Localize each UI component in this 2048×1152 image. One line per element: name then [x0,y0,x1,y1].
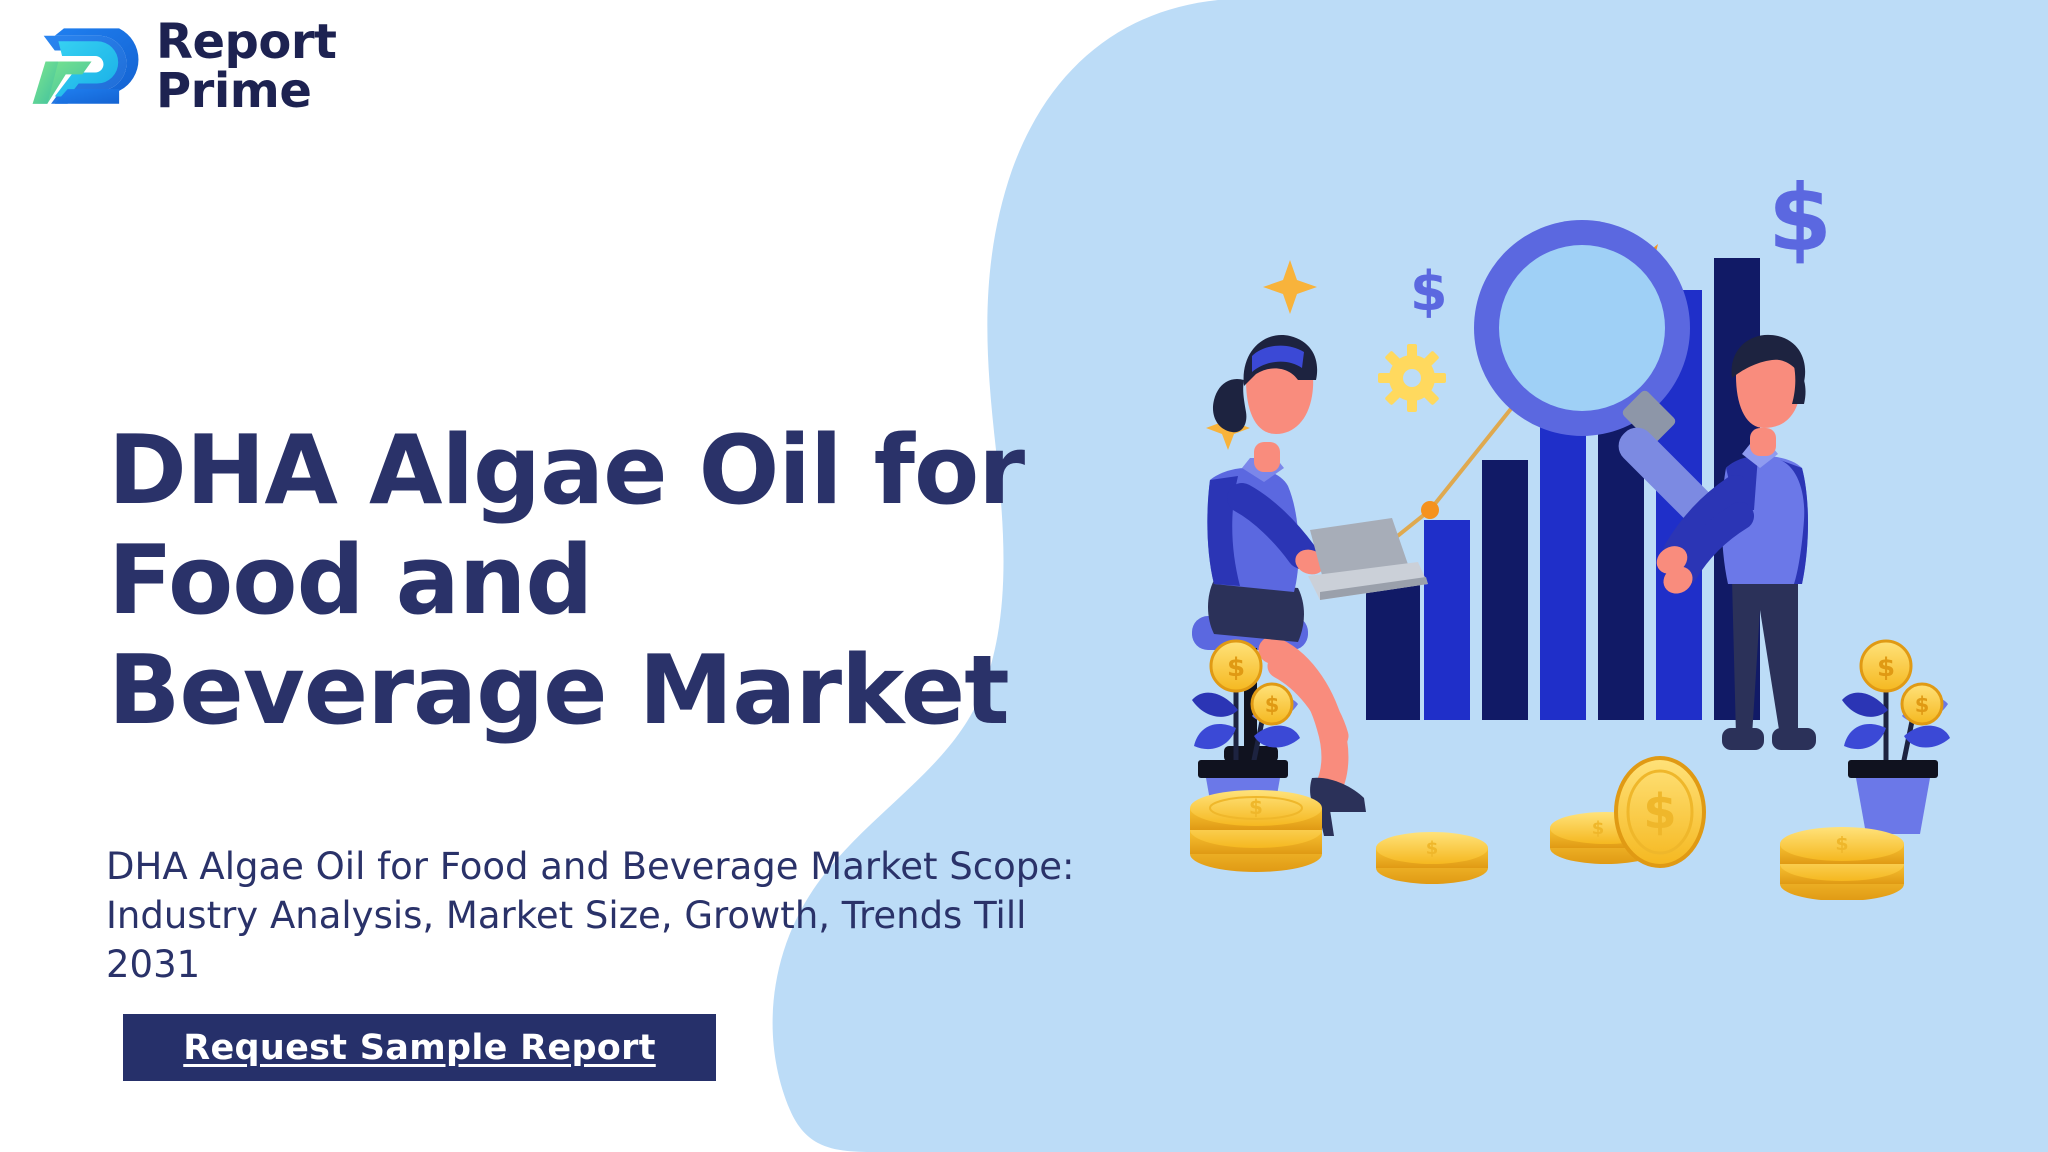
svg-text:$: $ [1426,838,1439,859]
svg-text:$: $ [1643,784,1676,840]
money-plant-right: $ $ [1842,641,1950,834]
brand-logo[interactable]: Report Prime [30,18,336,116]
svg-text:$: $ [1835,833,1848,855]
coin-stack-right-inner: $ $ [1550,758,1704,866]
hero-banner: Report Prime DHA Algae Oil for Food and … [0,0,2048,1152]
svg-text:$: $ [1265,693,1280,717]
brand-wordmark: Report Prime [156,18,336,116]
report-prime-logo-mark [30,21,142,113]
brand-name-line1: Report [156,18,336,67]
request-sample-report-label: Request Sample Report [183,1028,656,1068]
svg-text:$: $ [1768,180,1832,272]
page-subtitle: DHA Algae Oil for Food and Beverage Mark… [106,842,1196,990]
dollar-sign-large-icon: $ [1768,180,1832,272]
dollar-sign-small-icon: $ [1410,260,1448,323]
svg-text:$: $ [1915,693,1930,717]
coin-stack-far-right: $ [1780,827,1904,900]
coin-stack-left: $ [1190,790,1322,872]
svg-text:$: $ [1592,818,1605,839]
gear-icon [1378,344,1446,412]
page-title: DHA Algae Oil for Food and Beverage Mark… [108,416,1288,747]
svg-text:$: $ [1410,260,1448,323]
svg-text:$: $ [1877,653,1895,683]
svg-text:$: $ [1249,795,1263,819]
coin-stack-mid: $ [1376,832,1488,884]
request-sample-report-button[interactable]: Request Sample Report [123,1014,716,1081]
market-analysis-illustration: $ $ [1180,180,2010,900]
brand-name-line2: Prime [156,67,336,116]
svg-text:$: $ [1227,653,1245,683]
